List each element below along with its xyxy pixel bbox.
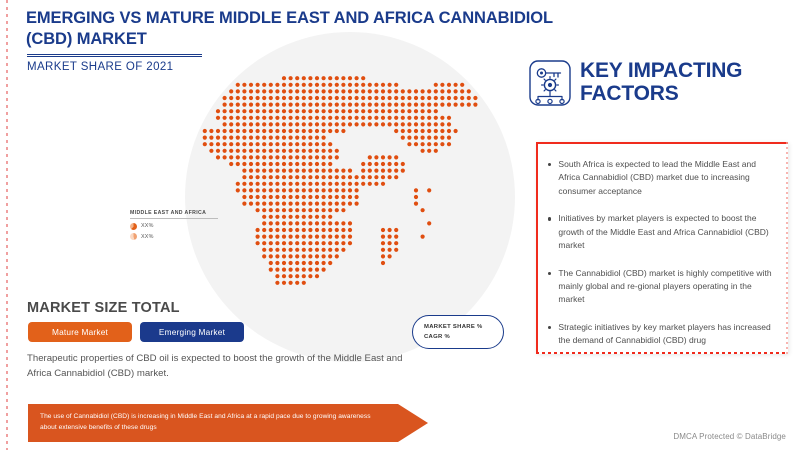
key-factors-list: South Africa is expected to lead the Mid… [548,158,776,362]
left-dotted-rail [6,0,8,450]
legend-value: XX% [141,223,154,229]
key-factor-text: South Africa is expected to lead the Mid… [558,158,776,198]
infographic-canvas: EMERGING VS MATURE MIDDLE EAST AND AFRIC… [0,0,800,450]
pie-chart-icon [130,223,137,230]
key-factor-text: Strategic initiatives by key market play… [558,321,776,348]
legend-row: XX% [130,223,226,230]
emerging-market-pill[interactable]: Emerging Market [140,322,244,342]
key-impacting-factors-title: KEY IMPACTING FACTORS [580,60,795,105]
key-gear-network-icon [527,59,573,107]
market-share-label: MARKET SHARE % [424,322,503,332]
key-factor-text: Initiatives by market players is expecte… [558,212,776,252]
page-title: EMERGING VS MATURE MIDDLE EAST AND AFRIC… [26,8,556,50]
cagr-label: CAGR % [424,332,503,342]
pie-chart-icon [130,233,137,240]
key-factors-panel-right-edge [786,142,788,354]
title-divider [27,54,202,57]
market-description: Therapeutic properties of CBD oil is exp… [27,352,427,382]
legend-row: XX% [130,233,226,240]
bullet-icon [548,217,551,220]
page-subtitle: MARKET SHARE OF 2021 [27,61,173,73]
key-factor-item: South Africa is expected to lead the Mid… [548,158,776,198]
legend-title: MIDDLE EAST AND AFRICA [130,210,218,219]
key-factor-item: Strategic initiatives by key market play… [548,321,776,348]
market-type-legend: Mature Market Emerging Market [28,322,244,342]
key-factor-item: The Cannabidiol (CBD) market is highly c… [548,267,776,307]
bullet-icon [548,326,551,329]
legend-value: XX% [141,234,154,240]
market-share-badge: MARKET SHARE % CAGR % [412,315,504,349]
bullet-icon [548,163,551,166]
key-factor-item: Initiatives by market players is expecte… [548,212,776,252]
mature-market-pill[interactable]: Mature Market [28,322,132,342]
footer-copyright: DMCA Protected © DataBridge [673,432,786,441]
bullet-icon [548,272,551,275]
middle-east-africa-dot-map [185,32,515,362]
map-legend: MIDDLE EAST AND AFRICA XX% XX% [130,210,226,240]
market-size-total-title: MARKET SIZE TOTAL [27,300,180,316]
key-factor-text: The Cannabidiol (CBD) market is highly c… [558,267,776,307]
highlight-banner: The use of Cannabidiol (CBD) is increasi… [28,404,428,442]
highlight-banner-text: The use of Cannabidiol (CBD) is increasi… [40,412,376,434]
